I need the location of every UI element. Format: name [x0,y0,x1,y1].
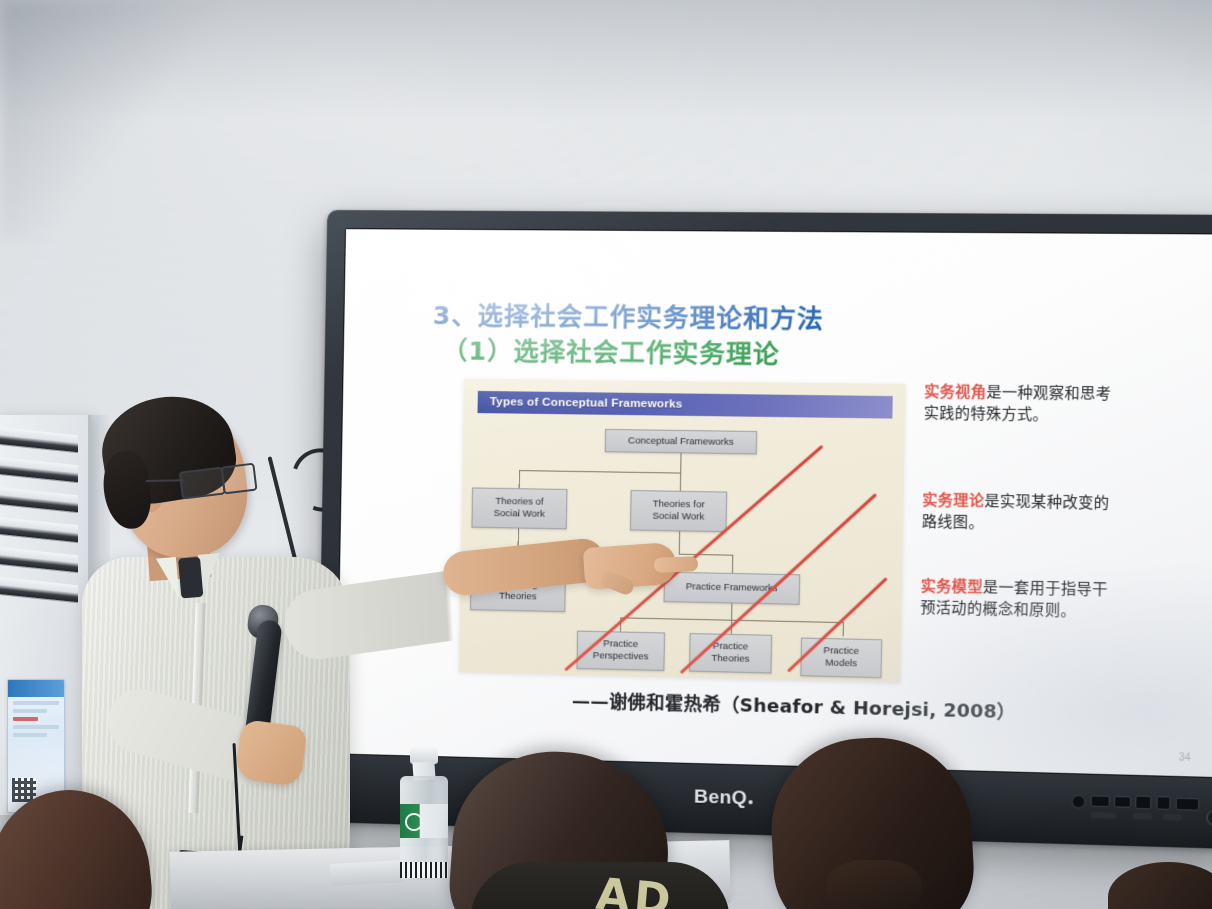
presenter-holding-hand [234,719,308,788]
shirt-collar [152,551,244,610]
node-label: Theories [711,653,749,666]
annotation-practice-model: 实务模型是一套用于指导干预活动的概念和原则。 [920,577,1110,624]
diagram-edge [680,452,681,472]
slide-page-number: 34 [1178,752,1190,764]
usb-port[interactable] [1114,796,1131,808]
hdmi-port[interactable] [1135,796,1151,810]
annotation-term: 实务模型 [921,579,983,597]
benq-interactive-display[interactable]: 3、选择社会工作实务理论和方法 （1）选择社会工作实务理论 Types of C… [317,210,1212,849]
wall-corner-seam [0,0,240,240]
slide-title-line2: （1）选择社会工作实务理论 [442,331,780,371]
water-bottle[interactable] [398,748,450,880]
diagram-edge [680,473,681,491]
diagram-node-conceptual-frameworks: Conceptual Frameworks [605,429,757,455]
barcode-icon [400,862,448,878]
bottle-label [400,804,448,838]
air-conditioner-louvers [0,431,78,613]
node-label: Practice [823,645,859,658]
annotation-term: 实务理论 [922,493,984,510]
node-label: Practice [603,638,638,651]
energy-label-rating-bar [13,717,38,721]
energy-label-header [8,680,64,697]
port-label [1133,813,1152,820]
audio-jack-port[interactable] [1156,796,1170,810]
diagram-node-practice-frameworks: Practice Frameworks [664,572,801,605]
diagram-edge [519,470,520,488]
port-label [1163,814,1182,821]
diagram-node-theories-of-social-work: Theories of Social Work [471,487,567,529]
node-label: Practice [713,641,749,654]
energy-label-row [13,701,59,705]
node-label: Models [825,657,857,670]
display-port-panel[interactable] [1071,789,1210,832]
benq-logo: BenQ [694,786,754,810]
annotation-practice-perspective: 实务视角是一种观察和思考实践的特殊方式。 [924,382,1114,428]
diagram-edge [843,622,844,636]
node-label: Social Work [652,511,704,524]
presentation-slide: 3、选择社会工作实务理论和方法 （1）选择社会工作实务理论 Types of C… [337,229,1212,777]
power-led-icon [1071,795,1085,809]
energy-label-row [13,725,59,729]
diagram-edge [679,554,733,556]
energy-label-row [13,733,47,737]
node-label: Theories of [495,496,543,509]
benq-logo-text: BenQ [694,786,747,809]
port-label [1090,812,1116,819]
diagram-node-practice-models: Practice Models [800,638,882,679]
audience-ponytail [826,860,922,909]
diagram-edge [732,555,733,573]
diagram-header-bar: Types of Conceptual Frameworks [477,391,892,419]
air-conditioner [0,415,91,815]
diagram-header-label: Types of Conceptual Frameworks [478,396,683,411]
diagram-edge [519,470,680,474]
screenshot-scene: 3、选择社会工作实务理论和方法 （1）选择社会工作实务理论 Types of C… [0,0,1212,909]
energy-label-row [13,709,47,713]
slide-citation: ——谢佛和霍热希（Sheafor & Horejsi, 2008） [572,687,1017,724]
node-label: Conceptual Frameworks [628,435,734,449]
presenter-index-finger [654,556,698,573]
node-label: Perspectives [593,650,649,663]
annotation-term: 实务视角 [924,384,986,401]
smartphone-on-desk[interactable] [329,860,404,886]
diagram-node-theories-for-social-work: Theories for Social Work [630,490,727,532]
diagram-edge [731,603,732,619]
slide-title-line1: 3、选择社会工作实务理论和方法 [432,296,824,336]
display-screen[interactable]: 3、选择社会工作实务理论和方法 （1）选择社会工作实务理论 Types of C… [337,229,1212,777]
node-label: Theories for [652,498,704,511]
node-label: Social Work [494,508,545,521]
cap-text: AD [594,869,677,909]
usb-port[interactable] [1091,795,1110,807]
annotation-practice-theory: 实务理论是实现某种改变的路线图。 [922,491,1112,537]
lan-port[interactable] [1176,798,1200,811]
diagram-edge [679,531,680,553]
